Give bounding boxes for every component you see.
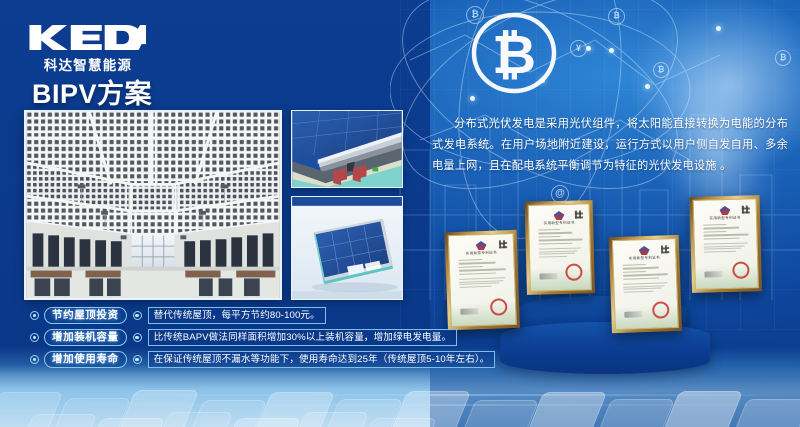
certificate-title: 实用新型专利证书 [698,215,752,221]
certificate-title: 实用新型专利证书 [453,250,509,257]
certificate-emblem-icon [639,246,650,255]
bipv-poster: ₿ ₿ ₿ ₿ ₿ @ ¥ ₿ 科达智慧能源 [0,0,800,427]
svg-text:₿: ₿ [492,25,536,85]
bitcoin-mini-icon: ₿ [775,50,791,66]
bitcoin-emblem: ₿ [460,3,568,107]
qr-code-icon [499,240,507,248]
feature-tag: 增加使用寿命 [44,351,127,368]
certificate-title: 实用新型专利证书 [617,255,671,262]
certificate-item: 实用新型专利证书 [525,200,595,295]
bitcoin-mini-icon: ₿ [608,8,625,25]
detail-photo-bipv-module [291,196,403,300]
detail-photo-mounting-node [291,110,403,188]
network-node-dot [586,46,591,51]
bullet-ring-icon [133,355,142,364]
certificate-title: 实用新型专利证书 [533,220,585,226]
main-photo-bipv-skylight [24,110,282,300]
certificate-emblem-icon [719,206,730,215]
bullet-ring-icon [30,333,39,342]
feature-row: 增加使用寿命 在保证传统屋顶不漏水等功能下，使用寿命达到25年（传统屋顶5-10… [30,351,450,368]
certificate-signature [624,311,642,318]
page-title: BIPV方案 [32,72,152,111]
bullet-ring-icon [133,311,142,320]
bullet-ring-icon [133,333,142,342]
certificate-signature [460,308,478,315]
network-node-dot [609,48,614,53]
feature-row: 节约屋顶投资 替代传统屋顶，每平方节约80-100元。 [30,307,450,324]
keda-wordmark-icon [28,22,146,53]
brand-name-cn: 科达智慧能源 [28,54,148,74]
feature-description: 比传统BAPV做法同样面积增加30%以上装机容量，增加绿电发电量。 [148,329,458,346]
feature-tag: 增加装机容量 [44,329,127,346]
bullet-ring-icon [30,311,39,320]
certificate-emblem-icon [553,211,564,220]
certificate-item: 实用新型专利证书 [689,195,761,293]
network-node-dot [645,84,650,89]
feature-bullet-list: 节约屋顶投资 替代传统屋顶，每平方节约80-100元。 增加装机容量 比传统BA… [30,307,450,373]
brand-logo: 科达智慧能源 [28,22,148,74]
certificate-signature [704,271,722,277]
bitcoin-mini-icon: ₿ [653,62,669,78]
yen-symbol-icon: ¥ [570,40,587,57]
certificate-signature [539,273,557,279]
bullet-ring-icon [30,355,39,364]
intro-paragraph: 分布式光伏发电是采用光伏组件，将太阳能直接转换为电能的分布式发电系统。在用户场地… [432,114,788,177]
feature-tag: 节约屋顶投资 [44,307,127,324]
network-node-dot [716,26,721,31]
qr-code-icon [742,205,750,213]
qr-code-icon [575,210,583,218]
feature-description: 在保证传统屋顶不漏水等功能下，使用寿命达到25年（传统屋顶5-10年左右）。 [148,351,496,368]
qr-code-icon [661,245,669,253]
certificate-emblem-icon [475,241,486,250]
feature-row: 增加装机容量 比传统BAPV做法同样面积增加30%以上装机容量，增加绿电发电量。 [30,329,450,346]
feature-description: 替代传统屋顶，每平方节约80-100元。 [148,307,326,324]
certificate-item: 实用新型专利证书 [609,235,682,333]
certificate-item: 实用新型专利证书 [445,230,520,330]
